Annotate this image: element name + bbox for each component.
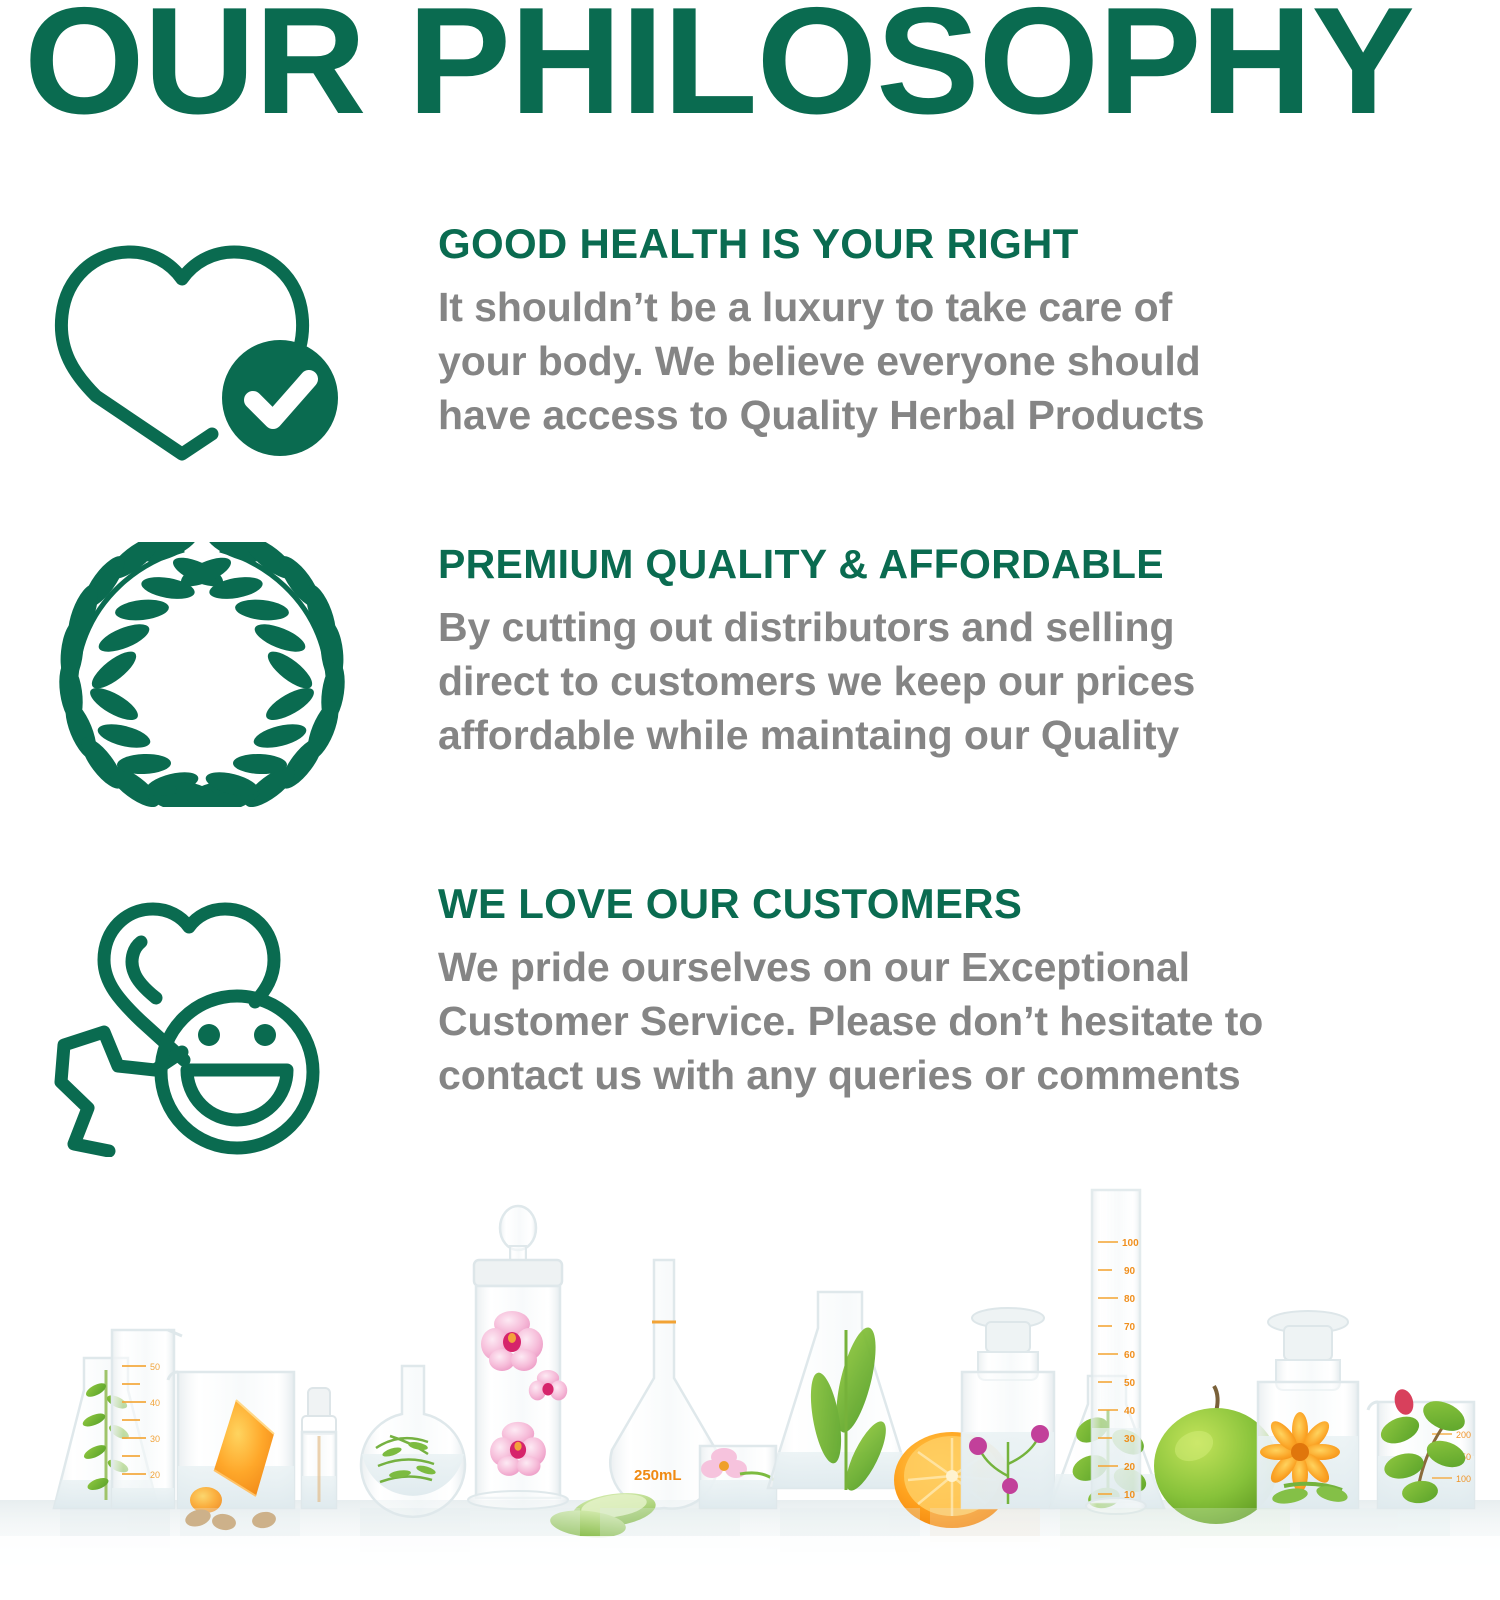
svg-text:200: 200 [1456,1430,1471,1440]
section-heading: WE LOVE OUR CUSTOMERS [438,882,1388,926]
philosophy-row-good-health: GOOD HEALTH IS YOUR RIGHT It shouldn’t b… [0,222,1500,482]
svg-text:20: 20 [1124,1462,1136,1473]
volumetric-flask-label: 250mL [634,1467,682,1484]
svg-text:100: 100 [1122,1238,1139,1249]
svg-text:80: 80 [1124,1294,1136,1305]
section-heading: PREMIUM QUALITY & AFFORDABLE [438,542,1388,586]
heart-check-icon [52,222,352,472]
page-title: OUR PHILOSOPHY [24,0,1500,136]
svg-text:60: 60 [1124,1350,1136,1361]
section-body: We pride ourselves on our Exceptional Cu… [438,940,1373,1102]
body-line: It shouldn’t be a luxury to take care of [438,280,1373,334]
smiley-mouth [187,1070,287,1120]
tall-graduated-cylinder: 1009080 706050 403020 10 [1086,1190,1146,1514]
svg-text:90: 90 [1124,1266,1136,1277]
premium-quality-text: PREMIUM QUALITY & AFFORDABLE By cutting … [438,542,1388,762]
beaker-with-orange-slice [168,1372,294,1513]
philosophy-row-we-love-customers: WE LOVE OUR CUSTOMERS We pride ourselves… [0,882,1500,1172]
body-line: your body. We believe everyone should [438,334,1373,388]
svg-text:10: 10 [1124,1490,1136,1501]
check-badge-circle [222,340,338,456]
laurel-wreath-icon-container [52,542,362,812]
beaker-with-rose-sprig: 200150100 [1368,1387,1474,1508]
svg-text:30: 30 [1124,1434,1136,1445]
svg-text:30: 30 [150,1434,160,1444]
section-body: It shouldn’t be a luxury to take care of… [438,280,1373,442]
we-love-customers-text: WE LOVE OUR CUSTOMERS We pride ourselves… [438,882,1388,1102]
svg-text:40: 40 [150,1398,160,1408]
section-heading: GOOD HEALTH IS YOUR RIGHT [438,222,1388,266]
photo-scene: 5040 3020 [0,1180,1500,1600]
svg-text:50: 50 [150,1362,160,1372]
section-body: By cutting out distributors and selling … [438,600,1373,762]
svg-text:40: 40 [1124,1406,1136,1417]
body-line: have access to Quality Herbal Products [438,388,1373,442]
good-health-text: GOOD HEALTH IS YOUR RIGHT It shouldn’t b… [438,222,1388,442]
heart-icon [104,909,274,1060]
laurel-wreath-icon [52,542,352,807]
body-line: direct to customers we keep our prices [438,654,1373,708]
body-line: We pride ourselves on our Exceptional [438,940,1373,994]
svg-text:20: 20 [150,1470,160,1480]
marigold-flower [1260,1412,1340,1492]
beaker-with-pink-flower [700,1446,776,1508]
star-heart-smiley-icon [52,882,342,1157]
svg-text:100: 100 [1456,1474,1471,1484]
dropper-bottle [302,1388,336,1508]
smiley-eye-left [198,1024,220,1046]
svg-text:70: 70 [1124,1322,1136,1333]
philosophy-row-premium-quality: PREMIUM QUALITY & AFFORDABLE By cutting … [0,542,1500,812]
heart-inner-accent [132,942,156,998]
graduated-cylinder: 5040 3020 [112,1330,182,1508]
smiley-eye-right [254,1024,276,1046]
star-heart-smiley-icon-container [52,882,362,1172]
body-line: affordable while maintaing our Quality [438,708,1373,762]
body-line: contact us with any queries or comments [438,1048,1373,1102]
body-line: Customer Service. Please don’t hesitate … [438,994,1373,1048]
body-line: By cutting out distributors and selling [438,600,1373,654]
svg-text:50: 50 [1124,1378,1136,1389]
lab-glassware-photo: 5040 3020 [0,1180,1500,1600]
heart-check-icon-container [52,222,362,482]
